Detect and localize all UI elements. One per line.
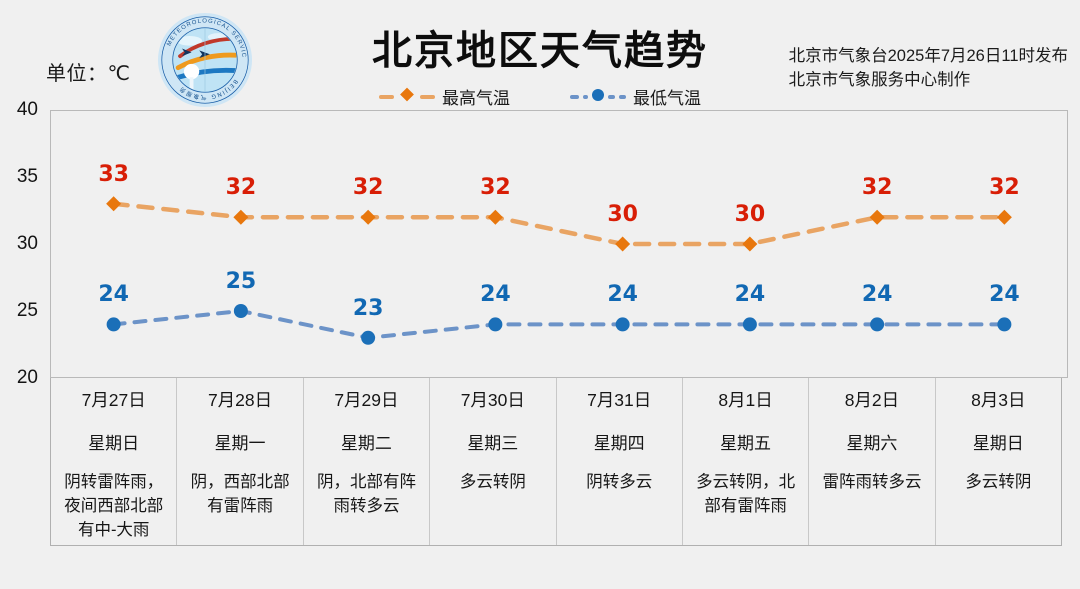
chart-series-svg bbox=[50, 110, 1068, 378]
forecast-description: 阴，北部有阵雨转多云 bbox=[309, 471, 424, 519]
forecast-weekday: 星期三 bbox=[467, 429, 518, 454]
legend-label-low: 最低气温 bbox=[633, 84, 701, 109]
y-axis: 40 35 30 25 20 bbox=[0, 110, 44, 378]
data-label-low: 24 bbox=[480, 282, 511, 307]
forecast-weekday: 星期二 bbox=[341, 429, 392, 454]
data-label-low: 24 bbox=[989, 282, 1020, 307]
legend-label-high: 最高气温 bbox=[442, 84, 510, 109]
forecast-weekday: 星期六 bbox=[846, 429, 897, 454]
data-point-marker bbox=[234, 304, 248, 318]
forecast-description: 阴转雷阵雨，夜间西部北部有中-大雨 bbox=[56, 471, 171, 543]
data-point-marker bbox=[742, 237, 757, 252]
forecast-weekday: 星期五 bbox=[720, 429, 771, 454]
forecast-column: 7月31日星期四阴转多云 bbox=[557, 378, 683, 545]
data-point-marker bbox=[743, 317, 757, 331]
y-tick-35: 35 bbox=[17, 166, 38, 188]
series-line-0 bbox=[114, 204, 1005, 244]
y-tick-20: 20 bbox=[17, 367, 38, 389]
weather-trend-infographic: 单位：℃ bbox=[0, 0, 1080, 589]
forecast-description: 阴，西部北部有雷阵雨 bbox=[182, 471, 297, 519]
data-point-marker bbox=[361, 210, 376, 225]
forecast-weekday: 星期日 bbox=[88, 429, 139, 454]
forecast-date: 7月31日 bbox=[587, 387, 651, 412]
data-point-marker bbox=[997, 210, 1012, 225]
forecast-date: 8月2日 bbox=[845, 387, 899, 412]
data-label-high: 30 bbox=[735, 202, 766, 227]
data-label-low: 23 bbox=[353, 296, 384, 321]
data-point-marker bbox=[870, 317, 884, 331]
data-point-marker bbox=[106, 196, 121, 211]
forecast-column: 8月2日星期六雷阵雨转多云 bbox=[809, 378, 935, 545]
legend-swatch-high-icon bbox=[379, 90, 435, 104]
legend-swatch-low-icon bbox=[570, 90, 626, 104]
data-point-marker bbox=[233, 210, 248, 225]
y-tick-30: 30 bbox=[17, 233, 38, 255]
forecast-description: 多云转阴，北部有雷阵雨 bbox=[688, 471, 803, 519]
data-label-high: 33 bbox=[98, 162, 129, 187]
forecast-weekday: 星期日 bbox=[973, 429, 1024, 454]
publisher-line-2: 北京市气象服务中心制作 bbox=[789, 68, 1068, 92]
forecast-column: 7月28日星期一阴，西部北部有雷阵雨 bbox=[177, 378, 303, 545]
data-label-high: 30 bbox=[607, 202, 638, 227]
data-label-low: 24 bbox=[98, 282, 129, 307]
forecast-column: 7月27日星期日阴转雷阵雨，夜间西部北部有中-大雨 bbox=[51, 378, 177, 545]
legend-item-high: 最高气温 bbox=[379, 84, 510, 109]
forecast-date: 7月30日 bbox=[461, 387, 525, 412]
forecast-column: 8月1日星期五多云转阴，北部有雷阵雨 bbox=[683, 378, 809, 545]
data-point-marker bbox=[361, 331, 375, 345]
data-label-high: 32 bbox=[226, 175, 257, 200]
data-label-high: 32 bbox=[353, 175, 384, 200]
data-label-high: 32 bbox=[989, 175, 1020, 200]
data-point-marker bbox=[615, 237, 630, 252]
forecast-table: 7月27日星期日阴转雷阵雨，夜间西部北部有中-大雨7月28日星期一阴，西部北部有… bbox=[50, 378, 1062, 546]
data-label-low: 24 bbox=[607, 282, 638, 307]
y-tick-40: 40 bbox=[17, 99, 38, 121]
data-point-marker bbox=[616, 317, 630, 331]
publisher-info: 北京市气象台2025年7月26日11时发布 北京市气象服务中心制作 bbox=[789, 44, 1068, 93]
forecast-date: 8月1日 bbox=[718, 387, 772, 412]
data-point-marker bbox=[488, 210, 503, 225]
forecast-column: 7月30日星期三多云转阴 bbox=[430, 378, 556, 545]
forecast-description: 多云转阴 bbox=[965, 471, 1031, 495]
data-point-marker bbox=[488, 317, 502, 331]
forecast-weekday: 星期四 bbox=[594, 429, 645, 454]
forecast-weekday: 星期一 bbox=[215, 429, 266, 454]
publisher-line-1: 北京市气象台2025年7月26日11时发布 bbox=[789, 44, 1068, 68]
legend-item-low: 最低气温 bbox=[570, 84, 701, 109]
data-label-low: 24 bbox=[862, 282, 893, 307]
circle-marker-icon bbox=[591, 87, 605, 107]
data-point-marker bbox=[870, 210, 885, 225]
forecast-description: 阴转多云 bbox=[586, 471, 652, 495]
forecast-column: 7月29日星期二阴，北部有阵雨转多云 bbox=[304, 378, 430, 545]
data-label-high: 32 bbox=[862, 175, 893, 200]
data-label-high: 32 bbox=[480, 175, 511, 200]
y-tick-25: 25 bbox=[17, 300, 38, 322]
forecast-description: 多云转阴 bbox=[460, 471, 526, 495]
data-point-marker bbox=[107, 317, 121, 331]
data-label-low: 24 bbox=[735, 282, 766, 307]
forecast-date: 7月27日 bbox=[82, 387, 146, 412]
forecast-column: 8月3日星期日多云转阴 bbox=[936, 378, 1061, 545]
data-label-low: 25 bbox=[226, 269, 257, 294]
forecast-date: 8月3日 bbox=[971, 387, 1025, 412]
diamond-marker-icon bbox=[400, 87, 415, 107]
forecast-date: 7月29日 bbox=[334, 387, 398, 412]
data-point-marker bbox=[997, 317, 1011, 331]
forecast-date: 7月28日 bbox=[208, 387, 272, 412]
forecast-description: 雷阵雨转多云 bbox=[822, 471, 921, 495]
